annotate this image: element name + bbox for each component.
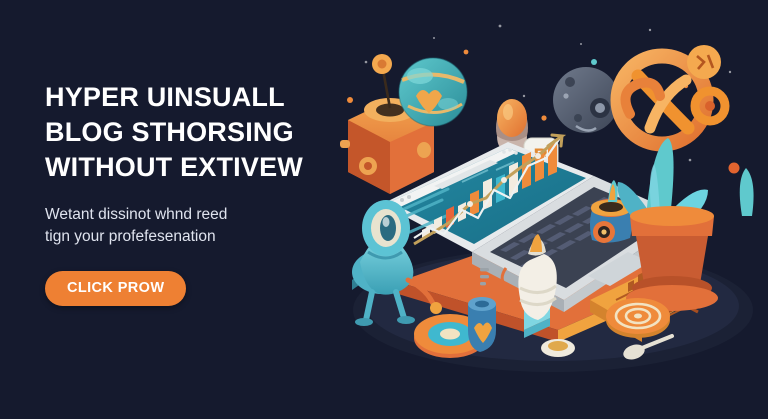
blue-crystal: [740, 168, 754, 216]
page-title: HYPER UINSUALL BLOG STHORSING WITHOUT EX…: [45, 80, 345, 185]
teal-globe: [399, 58, 467, 126]
headline-line-2: BLOG STHORSING: [45, 115, 345, 150]
cta-button[interactable]: CLICK PROW: [45, 271, 186, 306]
copy-block: HYPER UINSUALL BLOG STHORSING WITHOUT EX…: [45, 80, 345, 306]
coin: [541, 339, 575, 357]
hero-banner: HYPER UINSUALL BLOG STHORSING WITHOUT EX…: [0, 0, 768, 419]
headline-line-1: HYPER UINSUALL: [45, 80, 345, 115]
workspace-illustration: B: [338, 0, 768, 419]
target-spiral: [606, 298, 670, 338]
orange-ring-knot: [618, 45, 725, 144]
headline-line-3: WITHOUT EXTIVEW: [45, 150, 345, 185]
heart-can: [468, 297, 496, 352]
subtitle-line-2: tign your profefesenation: [45, 226, 345, 248]
subtitle: Wetant dissinot whnd reed tign your prof…: [45, 204, 345, 248]
gray-asteroid: [553, 67, 619, 133]
subtitle-line-1: Wetant dissinot whnd reed: [45, 204, 345, 226]
